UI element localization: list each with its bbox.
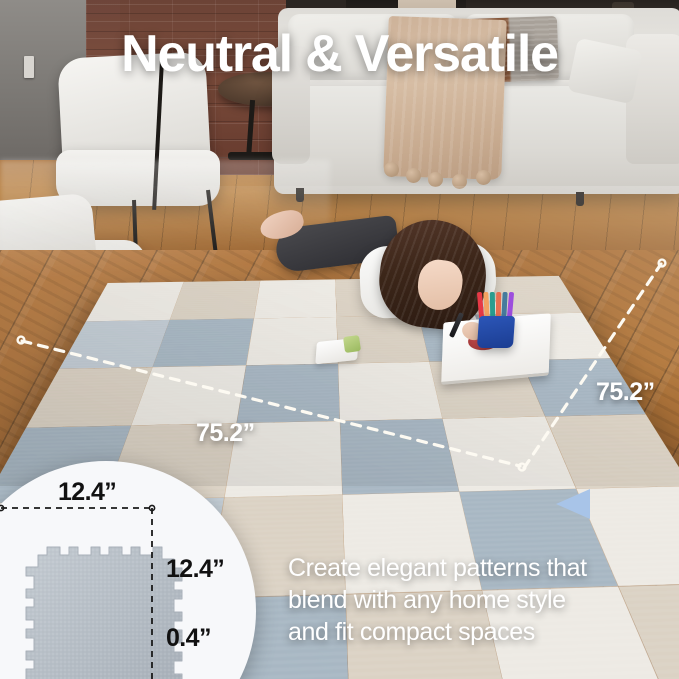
pom-pom	[428, 172, 443, 187]
tagline: Create elegant patterns that blend with …	[288, 553, 674, 648]
colored-pen	[490, 292, 495, 318]
tile-texture	[26, 547, 182, 679]
tagline-line-3: and fit compact spaces	[288, 617, 674, 649]
mat-depth-label: 75.2”	[596, 378, 655, 407]
puzzle-tile-top-view	[26, 547, 182, 679]
pom-pom	[384, 162, 399, 177]
mat-tile	[59, 320, 170, 369]
mat-tile	[340, 419, 460, 495]
tile-thickness-label: 0.4”	[166, 624, 211, 653]
colored-pen	[483, 292, 489, 318]
pom-pom	[476, 170, 491, 185]
small-green-object	[343, 335, 361, 353]
tile-width-label: 12.4”	[58, 478, 116, 507]
tile-height-label: 12.4”	[166, 555, 224, 584]
mat-tile	[86, 282, 184, 322]
colored-pen	[496, 292, 501, 318]
product-marketing-image: Neutral & Versatile 75.2” 75.2” Create e…	[0, 0, 679, 679]
mat-width-label: 75.2”	[196, 419, 255, 448]
tagline-line-1: Create elegant patterns that	[288, 553, 674, 585]
mat-tile	[170, 281, 260, 320]
pom-pom	[406, 168, 421, 183]
colored-pen	[507, 292, 514, 318]
tagline-line-2: blend with any home style	[288, 585, 674, 617]
mat-tile	[153, 319, 254, 367]
mat-tile	[442, 417, 575, 493]
pen-case	[477, 316, 515, 348]
page-title: Neutral & Versatile	[0, 24, 679, 84]
